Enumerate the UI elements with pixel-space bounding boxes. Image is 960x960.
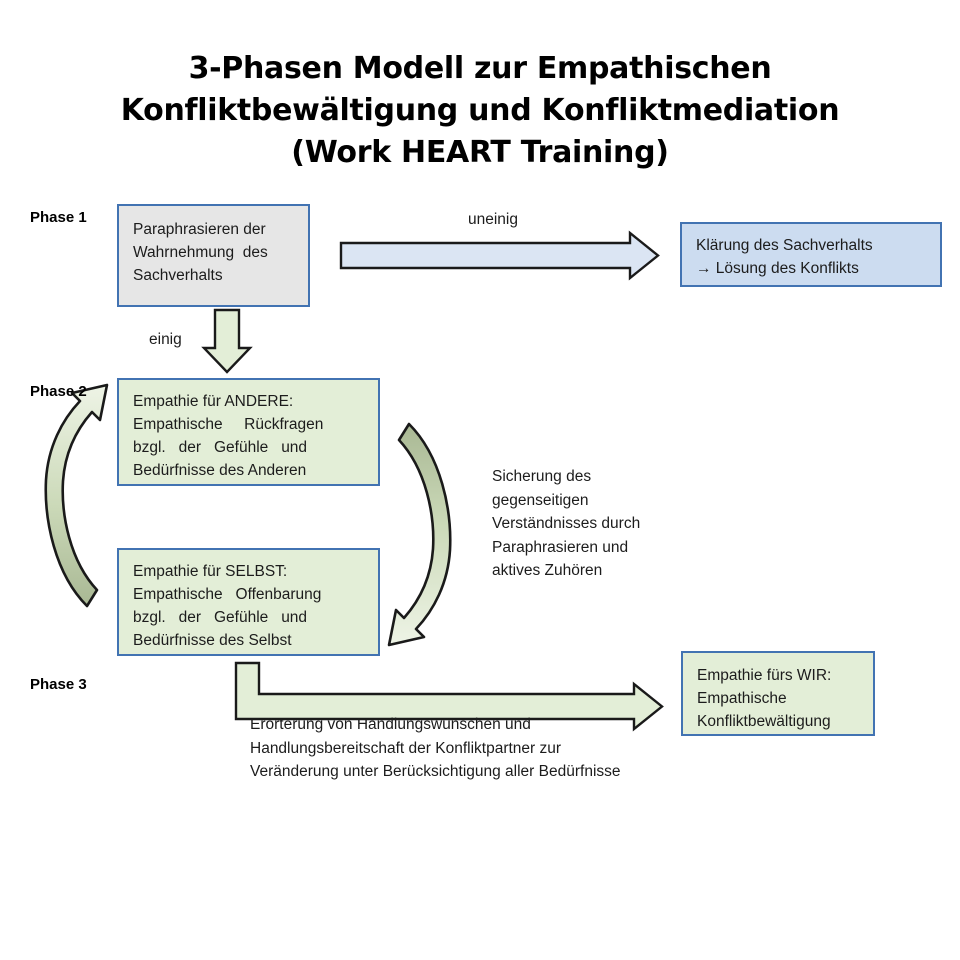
arrow-uneinig	[341, 233, 658, 278]
text-sicherung-des-gegenseitigen-verstaendnisses: Sicherung des gegenseitigen Verständniss…	[492, 465, 702, 583]
title-line-2: Konfliktbewältigung und Konfliktmediatio…	[60, 90, 900, 132]
text-line: Erörterung von Handlungswünschen und	[250, 713, 770, 737]
box-line: bzgl. der Gefühle und	[133, 436, 366, 459]
box-line: Paraphrasieren der	[133, 218, 296, 241]
box-line: bzgl. der Gefühle und	[133, 606, 366, 629]
box-line: → Lösung des Konflikts	[696, 257, 928, 280]
box-line: Klärung des Sachverhalts	[696, 234, 928, 257]
phase-1-label: Phase 1	[30, 209, 87, 226]
text-eroerterung-handlungswuensche: Erörterung von Handlungswünschen und Han…	[250, 713, 770, 784]
box-line: Empathie für SELBST:	[133, 560, 366, 583]
title-line-3: (Work HEART Training)	[60, 132, 900, 174]
page-title: 3-Phasen Modell zur Empathischen Konflik…	[60, 48, 900, 174]
box-line: Bedürfnisse des Anderen	[133, 459, 366, 482]
title-line-1: 3-Phasen Modell zur Empathischen	[60, 48, 900, 90]
phase-2-label: Phase 2	[30, 383, 87, 400]
box-line: Wahrnehmung des	[133, 241, 296, 264]
box-paraphrasieren-wahrnehmung: Paraphrasieren der Wahrnehmung des Sachv…	[117, 204, 310, 307]
text-line: aktives Zuhören	[492, 559, 702, 583]
arrow-label-einig: einig	[149, 331, 182, 349]
box-klaerung-des-sachverhalts: Klärung des Sachverhalts → Lösung des Ko…	[680, 222, 942, 287]
box-line: Empathie fürs WIR:	[697, 664, 861, 687]
box-line: Empathie für ANDERE:	[133, 390, 366, 413]
box-line: Bedürfnisse des Selbst	[133, 629, 366, 652]
box-line: Empathische	[697, 687, 861, 710]
box-line: Empathische Rückfragen	[133, 413, 366, 436]
text-line: Verständnisses durch	[492, 512, 702, 536]
text-line: gegenseitigen	[492, 489, 702, 513]
text-line: Sicherung des	[492, 465, 702, 489]
arrow-einig	[204, 310, 250, 372]
phase-3-label: Phase 3	[30, 676, 87, 693]
box-empathie-fuer-selbst: Empathie für SELBST: Empathische Offenba…	[117, 548, 380, 656]
text-line: Veränderung unter Berücksichtigung aller…	[250, 760, 770, 784]
text-line: Paraphrasieren und	[492, 536, 702, 560]
arrow-label-uneinig: uneinig	[468, 211, 518, 229]
box-line: Empathische Offenbarung	[133, 583, 366, 606]
box-line: Sachverhalts	[133, 264, 296, 287]
box-empathie-fuer-andere: Empathie für ANDERE: Empathische Rückfra…	[117, 378, 380, 486]
arrow-cycle-right	[389, 424, 450, 645]
text-line: Handlungsbereitschaft der Konfliktpartne…	[250, 737, 770, 761]
arrow-cycle-left	[46, 385, 107, 606]
